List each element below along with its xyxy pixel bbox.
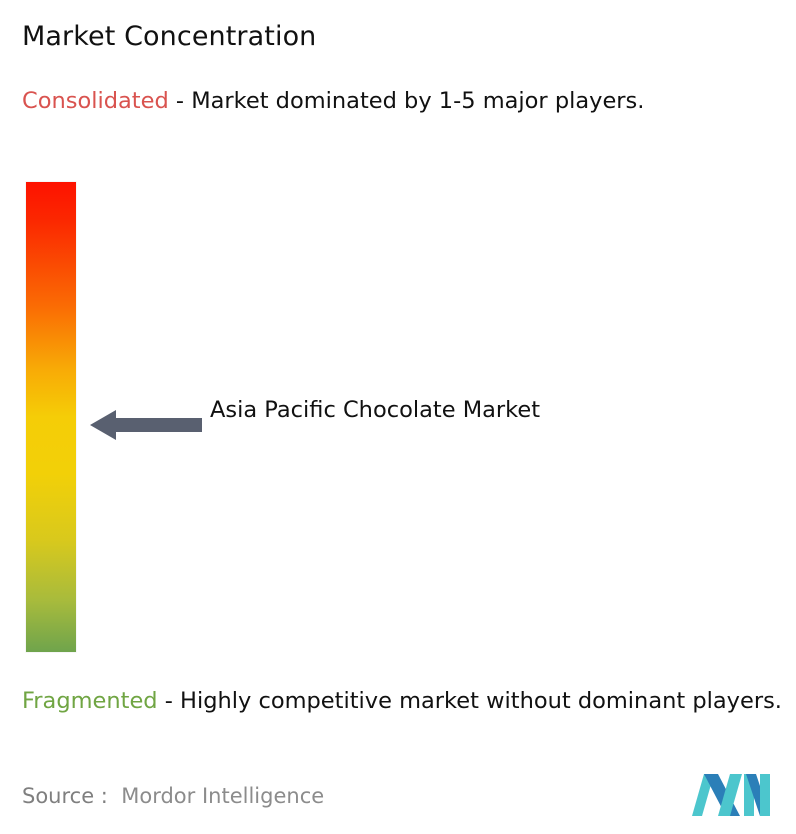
legend-separator-consolidated: - [169, 88, 191, 114]
source-label: Source : [22, 784, 108, 808]
source-attribution: Source : Mordor Intelligence [22, 782, 324, 810]
concentration-gradient-bar [26, 182, 76, 652]
callout-label: Asia Pacific Chocolate Market [210, 393, 630, 427]
legend-fragmented: Fragmented - Highly competitive market w… [22, 686, 790, 717]
source-value: Mordor Intelligence [121, 784, 324, 808]
mordor-intelligence-logo-icon [692, 768, 772, 818]
legend-term-consolidated: Consolidated [22, 88, 169, 114]
legend-description-consolidated: Market dominated by 1-5 major players. [191, 88, 644, 114]
legend-term-fragmented: Fragmented [22, 688, 158, 714]
legend-description-fragmented: Highly competitive market without domina… [180, 688, 782, 714]
left-arrow-icon [90, 408, 202, 442]
page-title: Market Concentration [22, 20, 316, 54]
legend-consolidated: Consolidated - Market dominated by 1-5 m… [22, 86, 762, 117]
legend-separator-fragmented: - [158, 688, 180, 714]
